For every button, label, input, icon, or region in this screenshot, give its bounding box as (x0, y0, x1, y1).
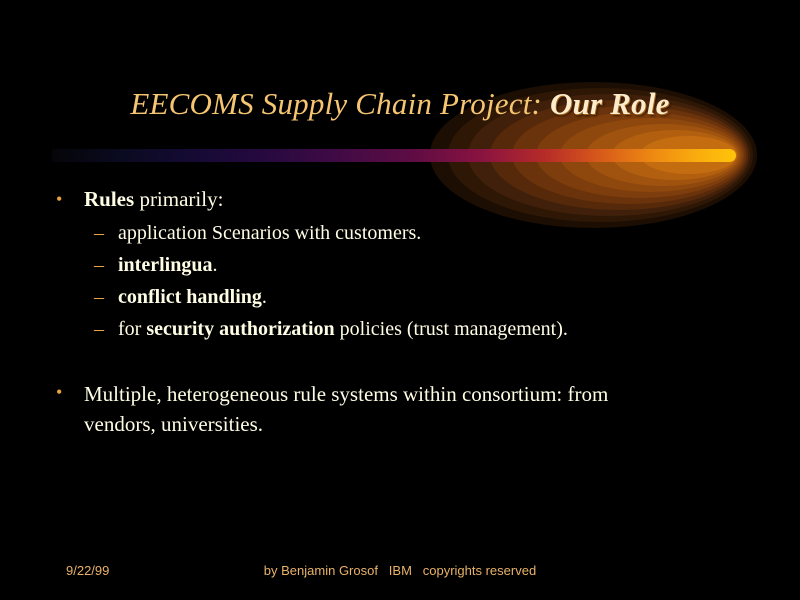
gradient-rule-bar (52, 149, 736, 162)
text-run-bold: interlingua (118, 254, 212, 276)
title-main-text: EECOMS Supply Chain Project: (130, 86, 550, 121)
bullet-marker-dot-icon: • (56, 379, 62, 405)
slide: EECOMS Supply Chain Project: Our Role •R… (0, 0, 800, 600)
text-run-bold: security authorization (146, 318, 334, 340)
slide-body: •Rules primarily:–application Scenarios … (0, 186, 800, 439)
bullet-level-2: –for security authorization policies (tr… (0, 313, 800, 345)
text-run: for (118, 318, 146, 340)
bullet-level-2: –conflict handling. (0, 281, 800, 313)
slide-title: EECOMS Supply Chain Project: Our Role (0, 88, 800, 119)
bullet-marker-dot-icon: • (56, 186, 62, 212)
sub-bullet-marker-dash-icon: – (94, 249, 104, 281)
text-run: . (262, 286, 267, 308)
sub-bullet-marker-dash-icon: – (94, 217, 104, 249)
text-run-bold: conflict handling (118, 286, 262, 308)
sub-bullet-marker-dash-icon: – (94, 281, 104, 313)
text-run-bold: Rules (84, 187, 134, 211)
bullet-level-2: –application Scenarios with customers. (0, 217, 800, 249)
text-run: . (212, 254, 217, 276)
text-run: Multiple, heterogeneous rule systems wit… (84, 382, 608, 436)
bullet-gap (0, 345, 800, 379)
bullet-level-1: •Multiple, heterogeneous rule systems wi… (0, 379, 684, 439)
bullet-level-2: –interlingua. (0, 249, 800, 281)
slide-footer: 9/22/99 by Benjamin Grosof IBM copyright… (0, 563, 800, 587)
sub-bullet-marker-dash-icon: – (94, 313, 104, 345)
text-run: primarily: (134, 187, 223, 211)
title-accent-text: Our Role (550, 86, 670, 121)
footer-credit: by Benjamin Grosof IBM copyrights reserv… (0, 563, 800, 578)
bullet-level-1: •Rules primarily: (0, 186, 800, 212)
text-run: application Scenarios with customers. (118, 222, 421, 244)
text-run: policies (trust management). (335, 318, 568, 340)
sub-bullet-list: –application Scenarios with customers.–i… (0, 217, 800, 345)
